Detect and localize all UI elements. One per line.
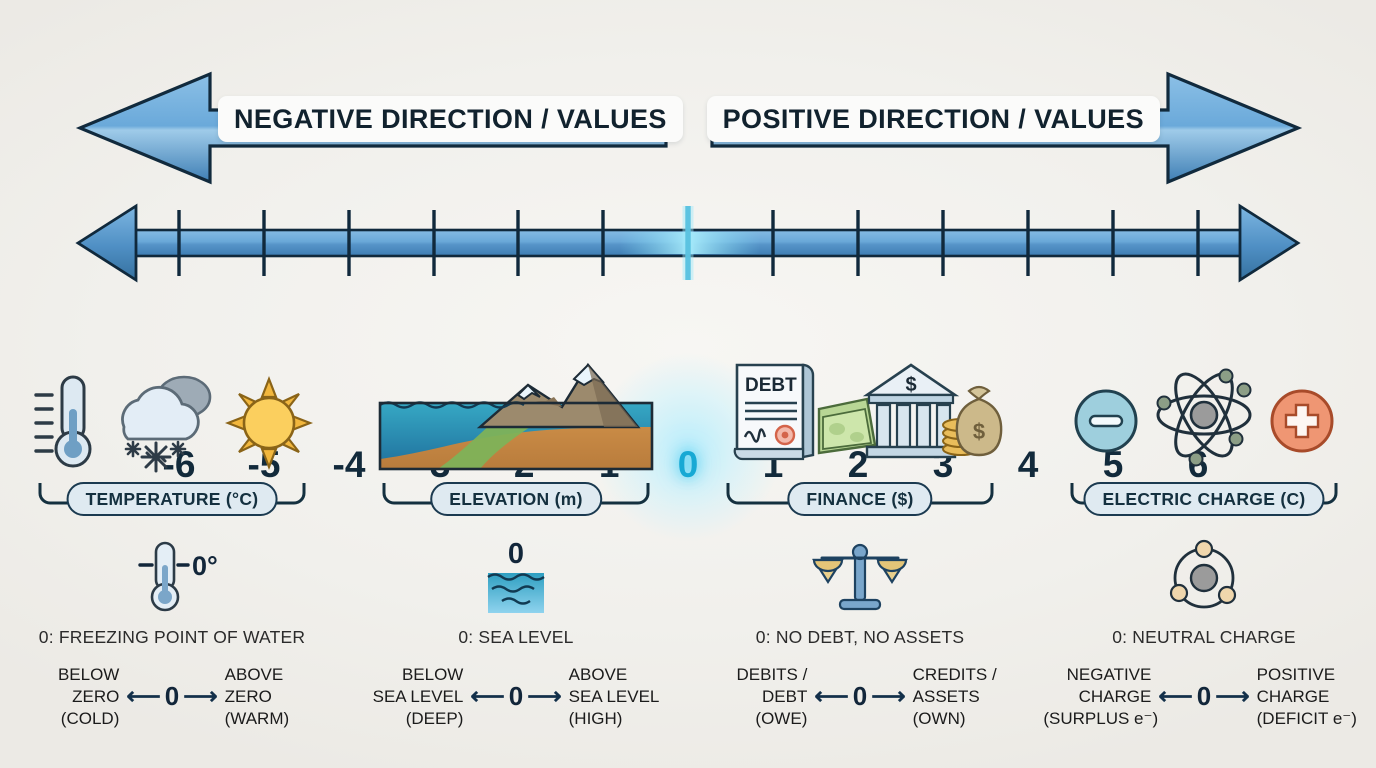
electric-charge-zero-icon-block	[1157, 537, 1251, 619]
right-arrow-glyph: ⟶	[1215, 685, 1249, 709]
temperature-direction-row: BELOW ZERO (COLD) ⟵ 0 ⟶ ABOVE ZERO (WARM…	[0, 664, 344, 729]
atom-icon	[1158, 366, 1251, 466]
electric-charge-direction-row: NEGATIVE CHARGE (SURPLUS e⁻) ⟵ 0 ⟶ POSIT…	[1032, 664, 1376, 729]
right-arrow-glyph: ⟶	[871, 685, 905, 709]
debt-scroll-icon: DEBT	[735, 365, 813, 459]
finance-right-lines: CREDITS / ASSETS (OWN)	[913, 664, 1021, 729]
elevation-zero-icon-block: 0	[468, 537, 564, 619]
line: POSITIVE	[1257, 664, 1365, 686]
line: SEA LEVEL	[569, 686, 677, 708]
plus-circle-icon	[1272, 391, 1332, 451]
center-zero: 0	[853, 681, 867, 712]
category-label-elevation: ELEVATION (m)	[430, 482, 602, 516]
thermometer-icon	[28, 365, 102, 473]
line: ASSETS	[913, 686, 1021, 708]
line: DEBT	[699, 686, 807, 708]
money-bag-icon: $	[957, 387, 1001, 455]
line: (HIGH)	[569, 708, 677, 730]
electric-charge-zero-caption: 0: NEUTRAL CHARGE	[1112, 627, 1296, 648]
elevation-left-lines: BELOW SEA LEVEL (DEEP)	[355, 664, 463, 729]
line: (DEEP)	[355, 708, 463, 730]
snow-cloud-icon	[108, 369, 216, 473]
finance-zero-center: ⟵ 0 ⟶	[814, 681, 905, 712]
temperature-left-lines: BELOW ZERO (COLD)	[11, 664, 119, 729]
finance-zero-caption: 0: NO DEBT, NO ASSETS	[756, 627, 964, 648]
finance-left-lines: DEBITS / DEBT (OWE)	[699, 664, 807, 729]
mountain-sea-icon	[376, 349, 656, 473]
line: (SURPLUS e⁻)	[1043, 708, 1151, 730]
left-arrow-glyph: ⟵	[1158, 685, 1192, 709]
elevation-bracket: ELEVATION (m)	[380, 481, 652, 525]
finance-bracket: FINANCE ($)	[724, 481, 996, 525]
line: BELOW	[11, 664, 119, 686]
right-arrow-glyph: ⟶	[183, 685, 217, 709]
cash-icon	[819, 399, 875, 453]
finance-icon-group: DEBT	[715, 345, 1005, 473]
panel-elevation: ELEVATION (m) 0	[344, 345, 688, 768]
line: ZERO	[225, 686, 333, 708]
line: DEBITS /	[699, 664, 807, 686]
svg-text:DEBT: DEBT	[745, 375, 797, 396]
panel-temperature: TEMPERATURE (°C) 0° 0: FREEZING POINT OF…	[0, 345, 344, 768]
category-label-electric-charge: ELECTRIC CHARGE (C)	[1083, 482, 1324, 516]
neutral-atom-icon	[1157, 538, 1251, 618]
line: ZERO	[11, 686, 119, 708]
examples-row: TEMPERATURE (°C) 0° 0: FREEZING POINT OF…	[0, 345, 1376, 768]
panel-electric-charge: ELECTRIC CHARGE (C) 0: NEUTRAL CHARGE NE…	[1032, 345, 1376, 768]
line: (DEFICIT e⁻)	[1257, 708, 1365, 730]
category-label-finance: FINANCE ($)	[787, 482, 932, 516]
electric-charge-bracket: ELECTRIC CHARGE (C)	[1068, 481, 1340, 525]
temperature-zero-icon-block: 0°	[112, 537, 232, 619]
thermometer-zero-icon: 0°	[112, 539, 232, 617]
elevation-direction-row: BELOW SEA LEVEL (DEEP) ⟵ 0 ⟶ ABOVE SEA L…	[344, 664, 688, 729]
electric-charge-left-lines: NEGATIVE CHARGE (SURPLUS e⁻)	[1043, 664, 1151, 729]
electric-charge-right-lines: POSITIVE CHARGE (DEFICIT e⁻)	[1257, 664, 1365, 729]
positive-direction-banner: POSITIVE DIRECTION / VALUES	[710, 72, 1300, 184]
elevation-icon-group	[376, 345, 656, 473]
left-arrow-glyph: ⟵	[126, 685, 160, 709]
line: SEA LEVEL	[355, 686, 463, 708]
electric-charge-zero-center: ⟵ 0 ⟶	[1158, 681, 1249, 712]
right-arrow-glyph: ⟶	[527, 685, 561, 709]
temperature-icon-group	[28, 345, 316, 473]
line: (COLD)	[11, 708, 119, 730]
line: ABOVE	[225, 664, 333, 686]
finance-icon-set: DEBT	[715, 353, 1005, 473]
category-label-temperature: TEMPERATURE (°C)	[67, 482, 278, 516]
line: (OWN)	[913, 708, 1021, 730]
line: (WARM)	[225, 708, 333, 730]
temperature-right-lines: ABOVE ZERO (WARM)	[225, 664, 333, 729]
sun-icon	[222, 373, 316, 473]
elevation-right-lines: ABOVE SEA LEVEL (HIGH)	[569, 664, 677, 729]
thermometer-zero-value: 0°	[192, 551, 218, 581]
svg-text:$: $	[905, 374, 916, 396]
line: ABOVE	[569, 664, 677, 686]
temperature-zero-caption: 0: FREEZING POINT OF WATER	[39, 627, 305, 648]
elevation-zero-caption: 0: SEA LEVEL	[458, 627, 573, 648]
center-zero: 0	[509, 681, 523, 712]
left-arrow-glyph: ⟵	[814, 685, 848, 709]
number-line-axis	[0, 192, 1376, 322]
line: CHARGE	[1043, 686, 1151, 708]
line: CREDITS /	[913, 664, 1021, 686]
temperature-bracket: TEMPERATURE (°C)	[36, 481, 308, 525]
sea-level-zero-value: 0	[508, 538, 524, 570]
negative-direction-label: NEGATIVE DIRECTION / VALUES	[218, 96, 683, 142]
minus-circle-icon	[1076, 391, 1136, 451]
line: CHARGE	[1257, 686, 1365, 708]
finance-direction-row: DEBITS / DEBT (OWE) ⟵ 0 ⟶ CREDITS / ASSE…	[688, 664, 1032, 729]
left-arrow-glyph: ⟵	[470, 685, 504, 709]
charge-icon-set	[1062, 363, 1346, 473]
svg-text:$: $	[973, 419, 985, 444]
line: NEGATIVE	[1043, 664, 1151, 686]
bank-icon: $	[867, 365, 955, 457]
infographic-canvas: NEGATIVE DIRECTION / VALUES POSITIVE DIR…	[0, 0, 1376, 768]
positive-direction-label: POSITIVE DIRECTION / VALUES	[707, 96, 1160, 142]
panel-finance: DEBT	[688, 345, 1032, 768]
sea-level-icon: 0	[468, 537, 564, 619]
center-zero: 0	[165, 681, 179, 712]
elevation-zero-center: ⟵ 0 ⟶	[470, 681, 561, 712]
temperature-zero-center: ⟵ 0 ⟶	[126, 681, 217, 712]
negative-direction-banner: NEGATIVE DIRECTION / VALUES	[78, 72, 668, 184]
line: BELOW	[355, 664, 463, 686]
balance-scale-icon	[808, 538, 912, 618]
center-zero: 0	[1197, 681, 1211, 712]
line: (OWE)	[699, 708, 807, 730]
electric-charge-icon-group	[1062, 345, 1346, 473]
finance-zero-icon-block	[808, 537, 912, 619]
number-line: -6 -5 -4 -3 -2 -1 0 1 2 3 4 5 6	[0, 192, 1376, 322]
